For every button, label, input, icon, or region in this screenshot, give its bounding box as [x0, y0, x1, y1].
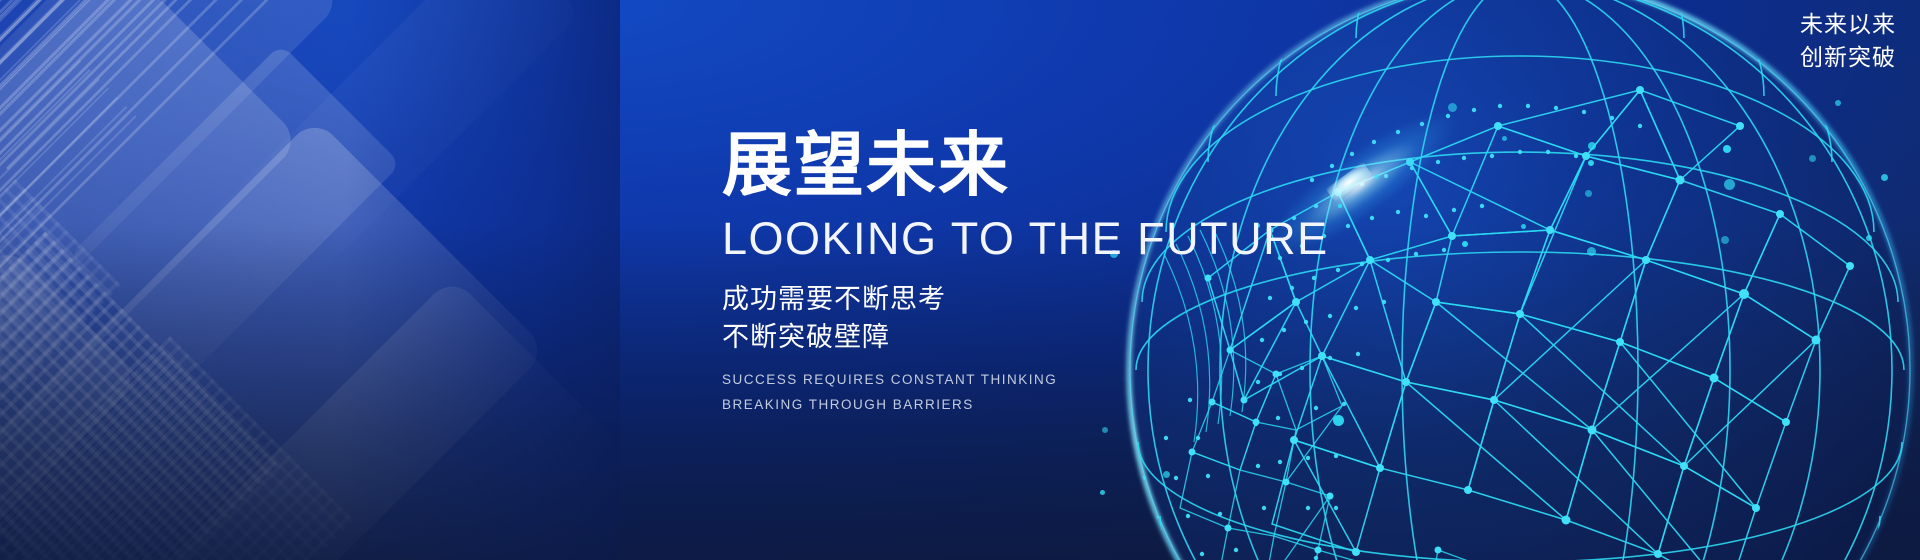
- subtitle-chinese: 成功需要不断思考 不断突破壁障: [722, 280, 1482, 357]
- floating-dot: [1809, 155, 1816, 162]
- page-title: 展望未来: [722, 130, 1482, 200]
- floating-dot: [1100, 490, 1105, 495]
- subtitle-english-line-1: SUCCESS REQUIRES CONSTANT THINKING: [722, 368, 1482, 393]
- floating-dot: [1448, 103, 1457, 112]
- floating-dot: [1881, 174, 1888, 181]
- headline-block: 展望未来 LOOKING TO THE FUTURE 成功需要不断思考 不断突破…: [722, 130, 1482, 418]
- subtitle-chinese-line-2: 不断突破壁障: [722, 318, 1482, 356]
- floating-dot: [1102, 427, 1108, 433]
- subtitle-english: SUCCESS REQUIRES CONSTANT THINKING BREAK…: [722, 368, 1482, 418]
- floating-dot: [1521, 224, 1526, 229]
- floating-dot: [1588, 142, 1596, 150]
- floating-dot: [1721, 236, 1729, 244]
- floating-dot: [1502, 136, 1507, 141]
- floating-dot: [1724, 179, 1735, 190]
- corner-slogan-line-2: 创新突破: [1800, 41, 1896, 74]
- floating-dot: [1866, 235, 1872, 241]
- floating-dot: [1587, 247, 1596, 256]
- floating-dot: [1835, 100, 1841, 106]
- corner-slogan: 未来以来 创新突破: [1800, 8, 1896, 73]
- floating-dot: [1588, 160, 1594, 166]
- floating-dot: [1723, 145, 1731, 153]
- floating-dot: [1585, 190, 1592, 197]
- hero-banner: 展望未来 LOOKING TO THE FUTURE 成功需要不断思考 不断突破…: [0, 0, 1920, 560]
- corner-slogan-line-1: 未来以来: [1800, 8, 1896, 41]
- subtitle-chinese-line-1: 成功需要不断思考: [722, 280, 1482, 318]
- subtitle-english-line-2: BREAKING THROUGH BARRIERS: [722, 393, 1482, 418]
- floating-dot: [1163, 471, 1170, 478]
- page-title-english: LOOKING TO THE FUTURE: [722, 216, 1482, 261]
